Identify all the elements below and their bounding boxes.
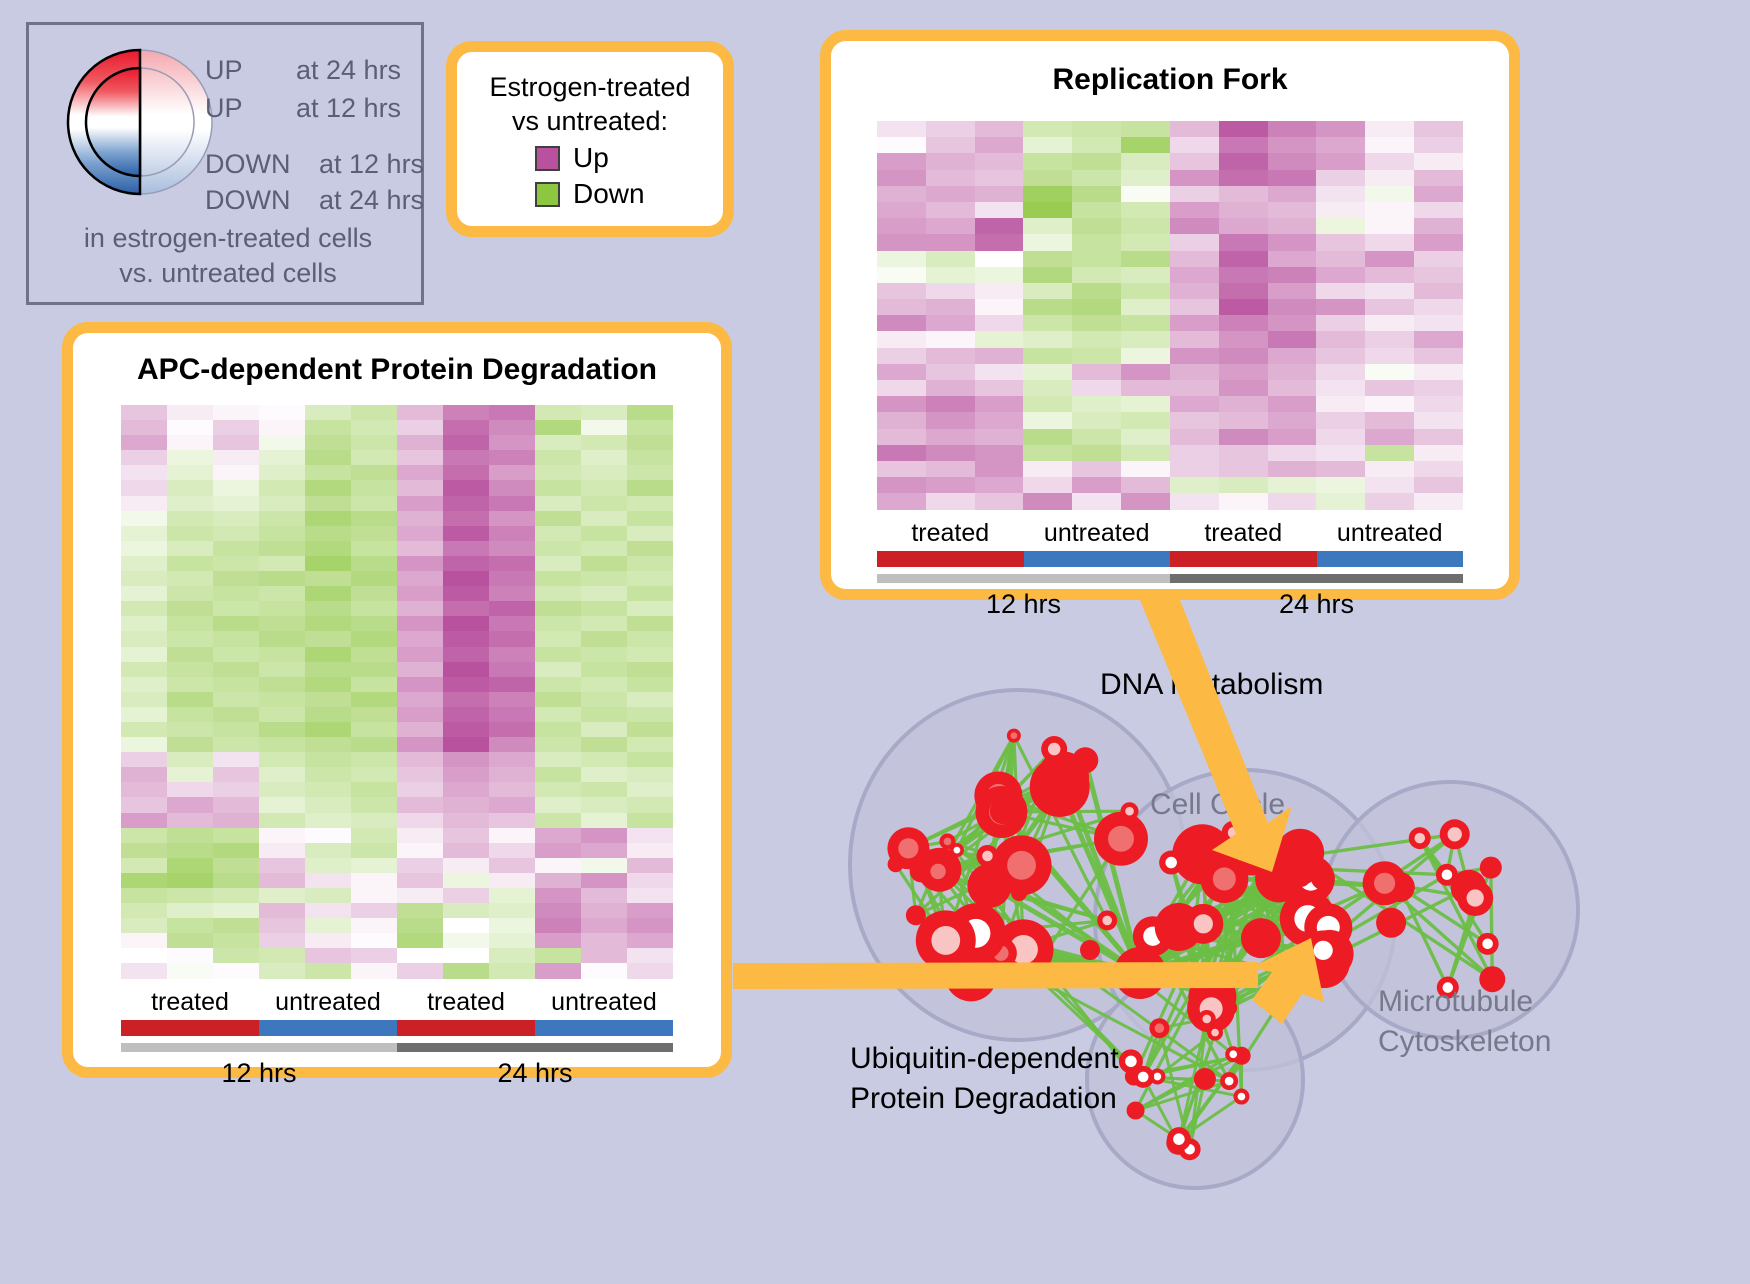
heatmap-cell (877, 137, 926, 153)
heatmap-cell (305, 601, 351, 616)
heatmap-cell (259, 948, 305, 963)
heatmap-cell (213, 465, 259, 480)
heatmap-cell (1414, 461, 1463, 477)
heatmap-cell (397, 858, 443, 873)
network-node-center (1029, 969, 1037, 977)
heatmap-cell (351, 813, 397, 828)
heatmap-cell (581, 767, 627, 782)
heatmap-cell (535, 752, 581, 767)
heatmap-cell (397, 752, 443, 767)
heatmap-cell (443, 707, 489, 722)
network-node (906, 905, 926, 925)
heatmap-cell (259, 541, 305, 556)
heatmap-cell (443, 631, 489, 646)
heatmap-cell (1316, 315, 1365, 331)
heatmap-cell (1121, 364, 1170, 380)
key-time-down-12: at 12 hrs (319, 149, 424, 180)
heatmap-cell (489, 631, 535, 646)
heatmap-cell (1170, 429, 1219, 445)
heatmap-cell (443, 450, 489, 465)
heatmap-cell (305, 677, 351, 692)
heatmap-cell (926, 331, 975, 347)
heatmap-cell (259, 435, 305, 450)
heatmap-cell (1121, 153, 1170, 169)
heatmap-cell (627, 813, 673, 828)
heatmap-cell (926, 445, 975, 461)
heatmap-cell (305, 918, 351, 933)
heatmap-cell (535, 843, 581, 858)
heatmap-cell (489, 556, 535, 571)
heatmap-cell (627, 405, 673, 420)
heatmap-cell (877, 299, 926, 315)
heatmap-cell (489, 616, 535, 631)
heatmap-cell (397, 692, 443, 707)
heatmap-cell (121, 858, 167, 873)
heatmap-cell (1072, 445, 1121, 461)
heatmap-cell (1219, 121, 1268, 137)
heatmap-cell (397, 647, 443, 662)
heatmap-cell (627, 722, 673, 737)
heatmap-cell (259, 631, 305, 646)
heatmap-cell (581, 933, 627, 948)
heatmap-cell (535, 586, 581, 601)
heatmap-cell (489, 918, 535, 933)
heatmap-cell (351, 647, 397, 662)
heatmap-cell (581, 722, 627, 737)
heatmap-cell (1023, 283, 1072, 299)
network-node-center (1108, 826, 1134, 852)
heatmap-cell (121, 677, 167, 692)
heatmap-cell (627, 601, 673, 616)
heatmap-cell (259, 571, 305, 586)
heatmap-cell (489, 903, 535, 918)
replication-fork-sample-colorbar (877, 551, 1463, 567)
heatmap-cell (535, 631, 581, 646)
heatmap-cell (1365, 121, 1414, 137)
heatmap-cell (1023, 121, 1072, 137)
heatmap-cell (1316, 202, 1365, 218)
legend-entry-up: Up (535, 142, 723, 174)
heatmap-cell (443, 948, 489, 963)
heatmap-cell (1023, 218, 1072, 234)
heatmap-cell (259, 828, 305, 843)
color-key-footnote: in estrogen-treated cells vs. untreated … (29, 221, 427, 291)
heatmap-cell (489, 722, 535, 737)
heatmap-cell (1219, 412, 1268, 428)
heatmap-cell (1414, 348, 1463, 364)
heatmap-cell (1023, 153, 1072, 169)
heatmap-cell (213, 722, 259, 737)
heatmap-cell (167, 767, 213, 782)
heatmap-cell (1316, 461, 1365, 477)
network-node (1080, 940, 1100, 960)
heatmap-cell (305, 435, 351, 450)
heatmap-cell (167, 405, 213, 420)
heatmap-cell (975, 380, 1024, 396)
heatmap-cell (1219, 493, 1268, 509)
heatmap-cell (535, 692, 581, 707)
heatmap-cell (1268, 251, 1317, 267)
heatmap-cell (213, 662, 259, 677)
heatmap-cell (1219, 477, 1268, 493)
heatmap-cell (167, 858, 213, 873)
heatmap-cell (259, 903, 305, 918)
heatmap-cell (1316, 218, 1365, 234)
heatmap-cell (1072, 429, 1121, 445)
heatmap-cell (1170, 153, 1219, 169)
key-time-up-24: at 24 hrs (296, 55, 401, 86)
heatmap-cell (1170, 396, 1219, 412)
heatmap-cell (975, 283, 1024, 299)
heatmap-cell (1121, 202, 1170, 218)
heatmap-cell (1414, 429, 1463, 445)
heatmap-cell (213, 707, 259, 722)
heatmap-cell (443, 662, 489, 677)
heatmap-cell (1121, 396, 1170, 412)
heatmap-cell (1414, 283, 1463, 299)
legend-label-up: Up (573, 142, 609, 174)
heatmap-cell (397, 465, 443, 480)
replication-fork-sample-labels: treateduntreatedtreateduntreated (877, 519, 1463, 548)
heatmap-cell (581, 888, 627, 903)
heatmap-cell (213, 586, 259, 601)
heatmap-cell (167, 707, 213, 722)
heatmap-cell (975, 364, 1024, 380)
heatmap-cell (877, 283, 926, 299)
heatmap-cell (305, 843, 351, 858)
heatmap-cell (1268, 477, 1317, 493)
heatmap-cell (535, 571, 581, 586)
heatmap-cell (627, 616, 673, 631)
heatmap-cell (1121, 283, 1170, 299)
heatmap-cell (213, 511, 259, 526)
network-node-center (944, 838, 952, 846)
heatmap-cell (121, 873, 167, 888)
heatmap-cell (397, 677, 443, 692)
heatmap-cell (581, 948, 627, 963)
heatmap-cell (489, 511, 535, 526)
heatmap-cell (1365, 364, 1414, 380)
heatmap-cell (167, 797, 213, 812)
network-node-center (954, 847, 961, 854)
heatmap-cell (351, 707, 397, 722)
heatmap-cell (1072, 153, 1121, 169)
heatmap-cell (1170, 251, 1219, 267)
time-label: 12 hrs (121, 1058, 397, 1089)
legend-label-down: Down (573, 178, 645, 210)
heatmap-cell (351, 933, 397, 948)
network-node-center (1155, 1023, 1165, 1033)
heatmap-cell (877, 331, 926, 347)
network-node (1480, 857, 1502, 879)
heatmap-cell (1316, 331, 1365, 347)
heatmap-cell (1268, 364, 1317, 380)
network-label-microtubule: Microtubule (1378, 985, 1533, 1019)
heatmap-cell (351, 631, 397, 646)
heatmap-cell (443, 435, 489, 450)
heatmap-cell (259, 616, 305, 631)
heatmap-cell (627, 737, 673, 752)
heatmap-cell (305, 465, 351, 480)
network-node-center (1228, 827, 1240, 839)
heatmap-cell (167, 465, 213, 480)
heatmap-cell (167, 813, 213, 828)
heatmap-cell (975, 137, 1024, 153)
heatmap-cell (535, 963, 581, 978)
heatmap-cell (121, 918, 167, 933)
heatmap-cell (351, 496, 397, 511)
heatmap-cell (581, 556, 627, 571)
heatmap-cell (489, 526, 535, 541)
heatmap-cell (1365, 153, 1414, 169)
heatmap-cell (975, 477, 1024, 493)
apc-degradation-heatmap (121, 405, 673, 979)
heatmap-cell (1365, 283, 1414, 299)
heatmap-cell (213, 647, 259, 662)
heatmap-cell (1170, 121, 1219, 137)
heatmap-cell (581, 526, 627, 541)
heatmap-cell (259, 782, 305, 797)
heatmap-cell (1414, 267, 1463, 283)
network-node-center (1467, 889, 1484, 906)
heatmap-cell (1414, 121, 1463, 137)
heatmap-cell (121, 480, 167, 495)
heatmap-cell (167, 631, 213, 646)
heatmap-cell (397, 948, 443, 963)
network-node-center (1194, 914, 1213, 933)
heatmap-cell (121, 541, 167, 556)
heatmap-cell (877, 412, 926, 428)
heatmap-cell (259, 480, 305, 495)
heatmap-cell (351, 511, 397, 526)
heatmap-cell (1023, 348, 1072, 364)
heatmap-cell (259, 496, 305, 511)
pathway-network-diagram: DNA Metabolism Cell Cycle Microtubule Cy… (790, 610, 1750, 1279)
heatmap-cell (1072, 412, 1121, 428)
heatmap-cell (305, 858, 351, 873)
heatmap-cell (167, 571, 213, 586)
heatmap-cell (1121, 477, 1170, 493)
heatmap-cell (489, 601, 535, 616)
heatmap-cell (305, 903, 351, 918)
heatmap-cell (627, 677, 673, 692)
heatmap-cell (397, 903, 443, 918)
heatmap-cell (489, 465, 535, 480)
heatmap-cell (397, 828, 443, 843)
heatmap-cell (443, 420, 489, 435)
heatmap-cell (489, 405, 535, 420)
heatmap-cell (1072, 202, 1121, 218)
heatmap-cell (975, 461, 1024, 477)
heatmap-cell (581, 918, 627, 933)
heatmap-cell (1023, 396, 1072, 412)
heatmap-cell (926, 299, 975, 315)
heatmap-cell (535, 858, 581, 873)
heatmap-cell (213, 480, 259, 495)
heatmap-cell (627, 888, 673, 903)
heatmap-cell (581, 480, 627, 495)
sample-colorbar-segment (1170, 551, 1317, 567)
heatmap-cell (877, 315, 926, 331)
heatmap-cell (581, 541, 627, 556)
heatmap-cell (443, 480, 489, 495)
heatmap-cell (397, 737, 443, 752)
heatmap-cell (1170, 364, 1219, 380)
heatmap-cell (1219, 251, 1268, 267)
apc-time-colorbar (121, 1043, 673, 1052)
heatmap-cell (1268, 283, 1317, 299)
heatmap-cell (213, 435, 259, 450)
network-node-center (1314, 941, 1333, 960)
heatmap-cell (305, 782, 351, 797)
heatmap-cell (259, 450, 305, 465)
heatmap-cell (877, 493, 926, 509)
heatmap-cell (213, 873, 259, 888)
heatmap-cell (535, 918, 581, 933)
heatmap-cell (1219, 380, 1268, 396)
heatmap-cell (581, 601, 627, 616)
heatmap-cell (1316, 396, 1365, 412)
heatmap-cell (213, 631, 259, 646)
heatmap-cell (975, 493, 1024, 509)
heatmap-cell (1414, 331, 1463, 347)
heatmap-cell (443, 858, 489, 873)
heatmap-cell (1121, 234, 1170, 250)
network-node-center (1165, 857, 1177, 869)
heatmap-cell (926, 170, 975, 186)
heatmap-cell (581, 571, 627, 586)
network-node-center (1154, 1073, 1162, 1081)
network-node-center (1007, 851, 1036, 880)
heatmap-cell (259, 873, 305, 888)
heatmap-cell (535, 662, 581, 677)
heatmap-cell (443, 752, 489, 767)
heatmap-cell (489, 586, 535, 601)
sample-label: untreated (1024, 519, 1171, 548)
heatmap-cell (443, 541, 489, 556)
heatmap-cell (351, 948, 397, 963)
heatmap-cell (1121, 412, 1170, 428)
heatmap-cell (1414, 234, 1463, 250)
heatmap-cell (305, 616, 351, 631)
heatmap-cell (1316, 477, 1365, 493)
heatmap-cell (397, 571, 443, 586)
heatmap-cell (581, 707, 627, 722)
heatmap-cell (259, 692, 305, 707)
heatmap-cell (489, 647, 535, 662)
heatmap-cell (1072, 170, 1121, 186)
network-node-center (1374, 873, 1395, 894)
key-time-up-12: at 12 hrs (296, 93, 401, 124)
heatmap-cell (305, 963, 351, 978)
heatmap-cell (581, 420, 627, 435)
heatmap-cell (1170, 170, 1219, 186)
expression-ring-key-icon (65, 47, 215, 197)
network-label-cytoskeleton: Cytoskeleton (1378, 1025, 1551, 1059)
heatmap-cell (877, 251, 926, 267)
heatmap-cell (1121, 429, 1170, 445)
heatmap-cell (627, 465, 673, 480)
heatmap-cell (397, 662, 443, 677)
heatmap-cell (213, 405, 259, 420)
heatmap-cell (489, 948, 535, 963)
heatmap-cell (1268, 461, 1317, 477)
heatmap-cell (121, 903, 167, 918)
heatmap-cell (926, 283, 975, 299)
heatmap-cell (443, 963, 489, 978)
heatmap-cell (926, 251, 975, 267)
key-label-up-24: UP (205, 55, 243, 86)
heatmap-cell (1316, 445, 1365, 461)
heatmap-cell (627, 526, 673, 541)
heatmap-cell (1121, 121, 1170, 137)
heatmap-cell (627, 496, 673, 511)
network-node-center (1173, 1133, 1185, 1145)
heatmap-cell (535, 405, 581, 420)
heatmap-cell (213, 858, 259, 873)
heatmap-cell (397, 496, 443, 511)
heatmap-cell (535, 480, 581, 495)
network-node (1114, 947, 1166, 999)
heatmap-cell (305, 586, 351, 601)
heatmap-cell (1268, 202, 1317, 218)
heatmap-cell (1365, 234, 1414, 250)
heatmap-cell (1170, 412, 1219, 428)
heatmap-cell (167, 450, 213, 465)
sample-label: treated (121, 988, 259, 1017)
heatmap-cell (305, 737, 351, 752)
heatmap-cell (1365, 380, 1414, 396)
heatmap-cell (213, 888, 259, 903)
heatmap-cell (121, 782, 167, 797)
heatmap-cell (213, 782, 259, 797)
heatmap-cell (926, 315, 975, 331)
heatmap-cell (1170, 331, 1219, 347)
heatmap-cell (535, 435, 581, 450)
heatmap-cell (1219, 283, 1268, 299)
heatmap-cell (259, 813, 305, 828)
sample-label: untreated (259, 988, 397, 1017)
heatmap-cell (535, 797, 581, 812)
heatmap-cell (1170, 299, 1219, 315)
heatmap-cell (1023, 267, 1072, 283)
heatmap-cell (1170, 477, 1219, 493)
key-label-up-12: UP (205, 93, 243, 124)
heatmap-cell (305, 541, 351, 556)
heatmap-cell (351, 767, 397, 782)
heatmap-cell (627, 948, 673, 963)
heatmap-cell (535, 616, 581, 631)
heatmap-cell (305, 873, 351, 888)
heatmap-cell (1414, 364, 1463, 380)
heatmap-cell (213, 752, 259, 767)
heatmap-cell (443, 616, 489, 631)
heatmap-cell (1219, 429, 1268, 445)
heatmap-cell (975, 202, 1024, 218)
heatmap-cell (259, 647, 305, 662)
heatmap-cell (121, 813, 167, 828)
network-label-cell-cycle: Cell Cycle (1150, 788, 1285, 822)
legend-swatch-up-icon (535, 146, 560, 171)
sample-colorbar-segment (877, 551, 1024, 567)
heatmap-cell (1219, 461, 1268, 477)
sample-colorbar-segment (121, 1020, 259, 1036)
heatmap-cell (1072, 137, 1121, 153)
heatmap-cell (975, 331, 1024, 347)
heatmap-cell (167, 526, 213, 541)
heatmap-cell (443, 828, 489, 843)
heatmap-cell (1121, 380, 1170, 396)
